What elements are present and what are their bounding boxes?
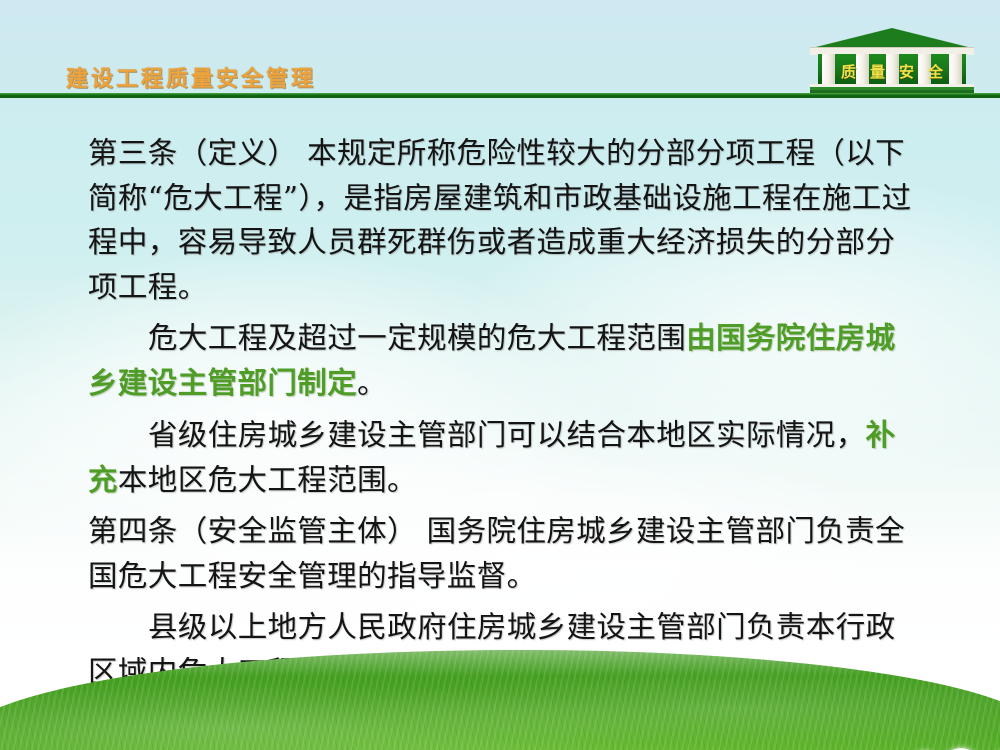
paragraph-run: 省级住房城乡建设主管部门可以结合本地区实际情况， xyxy=(148,418,866,452)
header-divider xyxy=(0,93,1000,98)
header-title: 建设工程质量安全管理 xyxy=(66,61,316,93)
paragraph-provincial-supplement: 省级住房城乡建设主管部门可以结合本地区实际情况，补充本地区危大工程范围。 xyxy=(88,413,918,502)
quality-safety-temple-logo: 质量安全 xyxy=(808,28,976,94)
paragraph-run: 本地区危大工程范围。 xyxy=(118,463,417,497)
slide-body: 第三条（定义） 本规定所称危险性较大的分部分项工程（以下简称“危大工程”），是指… xyxy=(88,131,918,696)
grass-highlight xyxy=(0,650,1000,676)
paragraph-run: 。 xyxy=(357,366,387,400)
slide-header: 建设工程质量安全管理 质量安全 xyxy=(0,0,1000,98)
temple-pediment-icon xyxy=(816,28,968,47)
paragraph-run: 第三条（定义） 本规定所称危险性较大的分部分项工程（以下简称“危大工程”），是指… xyxy=(88,136,912,304)
paragraph-run: 危大工程及超过一定规模的危大工程范围 xyxy=(148,321,686,355)
horizon-sun-icon xyxy=(960,660,982,672)
paragraph-scope-authority: 危大工程及超过一定规模的危大工程范围由国务院住房城乡建设主管部门制定。 xyxy=(88,316,918,405)
grass-field-decoration xyxy=(0,650,1000,750)
paragraph-article-4: 第四条（安全监管主体） 国务院住房城乡建设主管部门负责全国危大工程安全管理的指导… xyxy=(88,509,918,598)
paragraph-run: 第四条（安全监管主体） 国务院住房城乡建设主管部门负责全国危大工程安全管理的指导… xyxy=(88,514,905,593)
presentation-slide: 建设工程质量安全管理 质量安全 第三条（定义） 本规定所称危险性较大的分部分项工… xyxy=(0,0,1000,750)
logo-label: 质量安全 xyxy=(818,61,966,82)
paragraph-article-3: 第三条（定义） 本规定所称危险性较大的分部分项工程（以下简称“危大工程”），是指… xyxy=(88,131,918,309)
temple-steps xyxy=(810,84,974,93)
